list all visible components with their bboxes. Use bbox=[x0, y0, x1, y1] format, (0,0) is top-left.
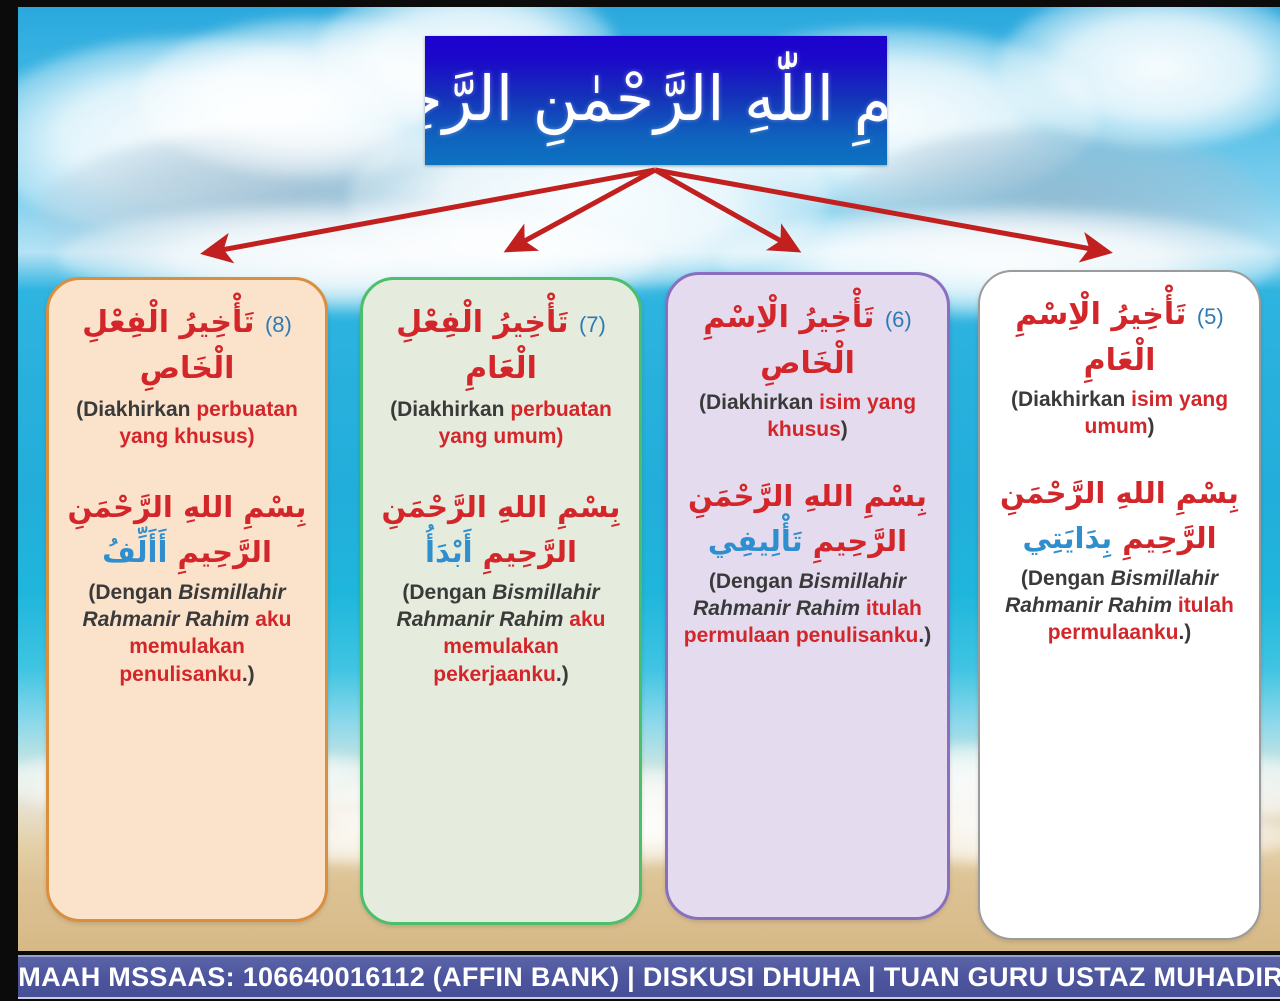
card-6-gloss-close: ) bbox=[841, 418, 848, 441]
ticker-text: EMAAH MSSAAS: 106640016112 (AFFIN BANK) … bbox=[18, 962, 1280, 993]
card-5-gloss-plain: (Diakhirkan bbox=[1011, 388, 1131, 411]
card-5-trans-open: (Dengan bbox=[1021, 567, 1111, 590]
card-7-title: (7) تَأْخِيرُ الْفِعْلِ الْعَامِ bbox=[375, 300, 627, 391]
concept-card-7[interactable]: (7) تَأْخِيرُ الْفِعْلِ الْعَامِ (Diakhi… bbox=[360, 277, 642, 925]
card-8-trans-close: .) bbox=[242, 663, 255, 686]
card-6-title-line1: تَأْخِيرُ الْاِسْمِ bbox=[703, 300, 874, 335]
card-8-title-line2: الْخَاصِ bbox=[140, 351, 235, 386]
card-8-number: (8) bbox=[265, 312, 292, 337]
card-6-gloss-plain: (Diakhirkan bbox=[699, 391, 819, 414]
concept-card-5[interactable]: (5) تَأْخِيرُ الْاِسْمِ الْعَامِ (Diakhi… bbox=[978, 270, 1261, 940]
concept-card-6[interactable]: (6) تَأْخِيرُ الْاِسْمِ الْخَاصِ (Diakhi… bbox=[665, 272, 950, 920]
card-8-gloss: (Diakhirkan perbuatan yang khusus) bbox=[61, 397, 313, 451]
card-7-title-line1: تَأْخِيرُ الْفِعْلِ bbox=[396, 305, 568, 340]
bismillah-banner: بِسْمِ اللّٰهِ الرَّحْمٰنِ الرَّحِيْمِ bbox=[425, 36, 887, 165]
card-5-verse: بِسْمِ اللهِ الرَّحْمَنِ الرَّحِيمِ بِدَ… bbox=[992, 471, 1247, 561]
card-7-gloss: (Diakhirkan perbuatan yang umum) bbox=[375, 397, 627, 451]
card-7-verse: بِسْمِ اللهِ الرَّحْمَنِ الرَّحِيمِ أَبْ… bbox=[375, 485, 627, 575]
card-8-title-line1: تَأْخِيرُ الْفِعْلِ bbox=[82, 305, 254, 340]
card-6-trans-close: .) bbox=[918, 624, 931, 647]
card-6-title-line2: الْخَاصِ bbox=[760, 346, 855, 381]
card-7-trans-close: .) bbox=[556, 663, 569, 686]
card-8-verse: بِسْمِ اللهِ الرَّحْمَنِ الرَّحِيمِ أَأَ… bbox=[61, 485, 313, 575]
card-8-verse-blue: أَأَلِّفُ bbox=[102, 535, 167, 569]
bottom-ticker-bar: EMAAH MSSAAS: 106640016112 (AFFIN BANK) … bbox=[18, 955, 1280, 999]
concept-card-8[interactable]: (8) تَأْخِيرُ الْفِعْلِ الْخَاصِ (Diakhi… bbox=[46, 277, 328, 922]
card-5-title: (5) تَأْخِيرُ الْاِسْمِ الْعَامِ bbox=[992, 292, 1247, 383]
card-5-verse-blue: بِدَايَتِي bbox=[1022, 521, 1112, 555]
card-7-trans-open: (Dengan bbox=[402, 581, 492, 604]
card-5-number: (5) bbox=[1197, 304, 1224, 329]
card-7-title-line2: الْعَامِ bbox=[465, 351, 537, 386]
card-5-gloss-close: ) bbox=[1148, 415, 1155, 438]
card-5-translation: (Dengan Bismillahir Rahmanir Rahim itula… bbox=[992, 565, 1247, 647]
card-7-verse-red: بِسْمِ اللهِ الرَّحْمَنِ الرَّحِيمِ bbox=[382, 490, 621, 569]
card-6-gloss: (Diakhirkan isim yang khusus) bbox=[680, 390, 935, 444]
bismillah-calligraphy: بِسْمِ اللّٰهِ الرَّحْمٰنِ الرَّحِيْمِ bbox=[425, 68, 887, 130]
card-7-gloss-plain: (Diakhirkan bbox=[390, 398, 510, 421]
card-5-gloss: (Diakhirkan isim yang umum) bbox=[992, 387, 1247, 441]
card-6-verse-blue: تَأْلِيفِي bbox=[708, 524, 803, 558]
cloud-shape bbox=[998, 7, 1280, 147]
card-7-verse-blue: أَبْدَأُ bbox=[425, 535, 473, 569]
slide-root: بِسْمِ اللّٰهِ الرَّحْمٰنِ الرَّحِيْمِ (… bbox=[0, 0, 1280, 1001]
card-8-title: (8) تَأْخِيرُ الْفِعْلِ الْخَاصِ bbox=[61, 300, 313, 391]
card-5-title-line1: تَأْخِيرُ الْاِسْمِ bbox=[1015, 297, 1186, 332]
card-6-trans-open: (Dengan bbox=[709, 570, 799, 593]
card-8-translation: (Dengan Bismillahir Rahmanir Rahim aku m… bbox=[61, 579, 313, 688]
cloud-shape bbox=[838, 127, 1268, 287]
card-6-title: (6) تَأْخِيرُ الْاِسْمِ الْخَاصِ bbox=[680, 295, 935, 386]
cloud-shape bbox=[18, 37, 398, 237]
card-7-number: (7) bbox=[579, 312, 606, 337]
card-6-number: (6) bbox=[885, 307, 912, 332]
card-8-trans-open: (Dengan bbox=[88, 581, 178, 604]
card-7-translation: (Dengan Bismillahir Rahmanir Rahim aku m… bbox=[375, 579, 627, 688]
card-5-trans-close: .) bbox=[1178, 621, 1191, 644]
card-6-verse: بِسْمِ اللهِ الرَّحْمَنِ الرَّحِيمِ تَأْ… bbox=[680, 474, 935, 564]
card-8-gloss-plain: (Diakhirkan bbox=[76, 398, 196, 421]
card-5-title-line2: الْعَامِ bbox=[1084, 343, 1156, 378]
card-6-translation: (Dengan Bismillahir Rahmanir Rahim itula… bbox=[680, 568, 935, 650]
